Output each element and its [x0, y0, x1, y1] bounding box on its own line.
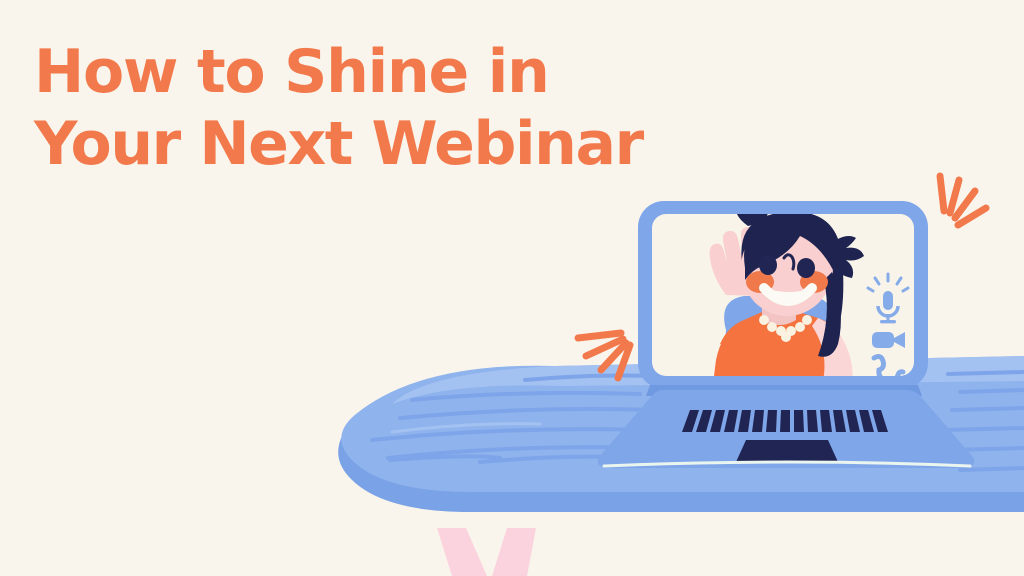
eye-left: [759, 255, 777, 275]
laptop-trackpad: [736, 440, 838, 462]
laptop-screen: [638, 194, 928, 392]
key: [794, 410, 804, 432]
key: [780, 410, 790, 432]
laptop: [598, 194, 975, 475]
eye-right: [797, 258, 815, 278]
webinar-laptop-illustration: [0, 0, 1024, 576]
poster-canvas: How to Shine in Your Next Webinar: [0, 0, 1024, 576]
